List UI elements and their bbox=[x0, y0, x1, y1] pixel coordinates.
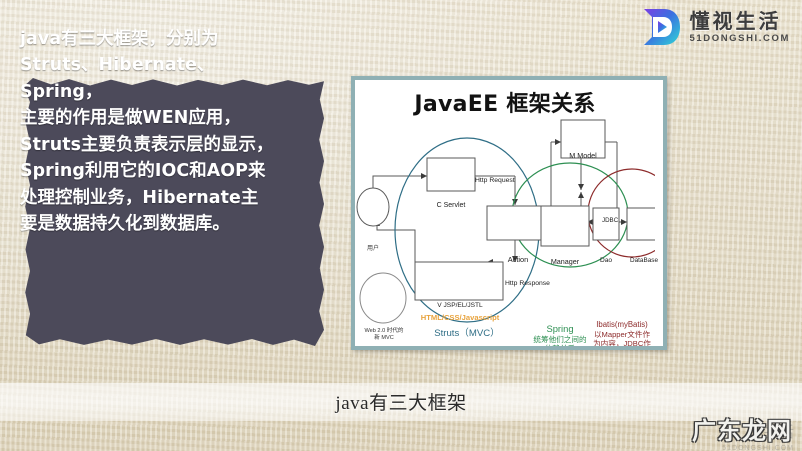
ibatis-caption-line: 以Mapper文件作 bbox=[583, 330, 661, 339]
node-web20-label: Web 2.0 时代的新 MVC bbox=[363, 328, 405, 342]
node-database-label: DataBase bbox=[627, 257, 661, 264]
node-user-label: 用户 bbox=[359, 243, 387, 252]
note-line: Struts、Hibernate、Spring， bbox=[20, 52, 282, 105]
brand-name-en: 51DONGSHI.COM bbox=[689, 34, 790, 44]
slide-background: 懂视生活 51DONGSHI.COM java有三大框架，分别为 Struts、… bbox=[0, 0, 802, 451]
node-dao-shape bbox=[593, 208, 619, 240]
node-manager-shape bbox=[541, 206, 589, 246]
ibatis-caption-line: Ibatis(myBatis) bbox=[583, 320, 661, 330]
watermark-text: 广东龙网 bbox=[692, 419, 792, 443]
node-action-shape bbox=[487, 206, 549, 240]
node-cservlet-shape bbox=[427, 158, 475, 191]
ibatis-caption-line: 为方式 bbox=[583, 349, 661, 350]
note-line: 要是数据持久化到数据库。 bbox=[20, 211, 282, 237]
node-cservlet-label: C Servlet bbox=[427, 202, 475, 209]
node-manager-label: Manager bbox=[541, 257, 589, 266]
ibatis-group-caption: Ibatis(myBatis) 以Mapper文件作 为内容，JDBC作 为方式 bbox=[583, 320, 661, 350]
logo-d-icon bbox=[640, 6, 682, 48]
note-line: Struts主要负责表示层的显示， bbox=[20, 132, 282, 158]
node-view-label: V JSP/EL/JSTL bbox=[417, 302, 503, 309]
node-dao-label: Dao bbox=[593, 257, 619, 264]
node-database-shape bbox=[627, 208, 655, 240]
node-action-label: Action bbox=[487, 255, 549, 264]
edge-jdbc-label: JDBC bbox=[602, 217, 618, 224]
node-viewtech-label: HTML/CSS/Javascript bbox=[415, 313, 505, 322]
struts-group-caption: Struts（MVC） bbox=[407, 325, 527, 339]
brand-name-cn: 懂视生活 bbox=[689, 11, 790, 31]
note-line: 主要的作用是做WEN应用， bbox=[20, 105, 282, 131]
node-user-shape bbox=[357, 188, 389, 226]
edge-http-response-label: Http Response bbox=[505, 280, 550, 287]
node-web20-shape bbox=[360, 273, 406, 323]
note-line: java有三大框架，分别为 bbox=[20, 26, 282, 52]
watermark-ghost-en: 51DONGSHI.COM bbox=[722, 445, 794, 451]
note-line: Spring利用它的IOC和AOP来 bbox=[20, 158, 282, 184]
diagram-canvas bbox=[355, 80, 655, 338]
node-view-shape bbox=[415, 262, 503, 300]
page-caption: java有三大框架 bbox=[0, 388, 802, 415]
node-mmodel-label: M Model bbox=[561, 151, 605, 160]
brand-logo: 懂视生活 51DONGSHI.COM bbox=[640, 6, 790, 48]
watermark: 生活 51DONGSHI.COM 广东龙网 bbox=[692, 419, 792, 443]
note-line: 处理控制业务，Hibernate主 bbox=[20, 185, 282, 211]
note-text: java有三大框架，分别为 Struts、Hibernate、Spring， 主… bbox=[20, 26, 282, 238]
edge-http-request-label: Http Request bbox=[475, 177, 515, 184]
ibatis-caption-line: 为内容，JDBC作 bbox=[583, 339, 661, 348]
javaee-architecture-diagram: JavaEE 框架关系 bbox=[351, 76, 667, 350]
